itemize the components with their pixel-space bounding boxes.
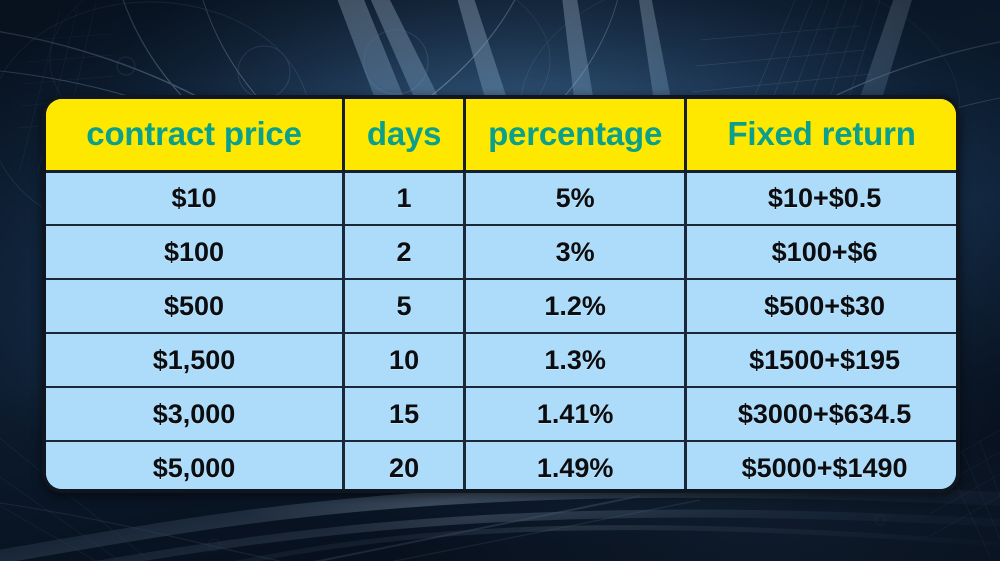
table-row: $100 2 3% $100+$6 [46, 225, 956, 279]
cell-contract-price: $3,000 [46, 387, 344, 441]
cell-percentage: 1.3% [465, 333, 686, 387]
table-row: $10 1 5% $10+$0.5 [46, 171, 956, 225]
cell-contract-price: $5,000 [46, 441, 344, 493]
cell-days: 1 [344, 171, 465, 225]
table-header: contract price days percentage Fixed ret… [46, 99, 956, 171]
table-body: $10 1 5% $10+$0.5 $100 2 3% $100+$6 $500… [46, 171, 956, 493]
cell-days: 20 [344, 441, 465, 493]
column-header-contract-price: contract price [46, 99, 344, 171]
cell-contract-price: $500 [46, 279, 344, 333]
cell-fixed-return: $500+$30 [686, 279, 956, 333]
rate-table: contract price days percentage Fixed ret… [46, 99, 956, 493]
cell-contract-price: $1,500 [46, 333, 344, 387]
header-row: contract price days percentage Fixed ret… [46, 99, 956, 171]
cell-percentage: 5% [465, 171, 686, 225]
cell-percentage: 1.2% [465, 279, 686, 333]
cell-percentage: 1.49% [465, 441, 686, 493]
cell-days: 15 [344, 387, 465, 441]
cell-fixed-return: $1500+$195 [686, 333, 956, 387]
cell-contract-price: $100 [46, 225, 344, 279]
rate-table-container: contract price days percentage Fixed ret… [42, 95, 960, 493]
cell-fixed-return: $100+$6 [686, 225, 956, 279]
cell-percentage: 3% [465, 225, 686, 279]
column-header-days: days [344, 99, 465, 171]
table-row: $5,000 20 1.49% $5000+$1490 [46, 441, 956, 493]
table-row: $3,000 15 1.41% $3000+$634.5 [46, 387, 956, 441]
table-row: $1,500 10 1.3% $1500+$195 [46, 333, 956, 387]
cell-days: 10 [344, 333, 465, 387]
cell-contract-price: $10 [46, 171, 344, 225]
cell-days: 2 [344, 225, 465, 279]
cell-percentage: 1.41% [465, 387, 686, 441]
column-header-fixed-return: Fixed return [686, 99, 956, 171]
cell-days: 5 [344, 279, 465, 333]
cell-fixed-return: $3000+$634.5 [686, 387, 956, 441]
column-header-percentage: percentage [465, 99, 686, 171]
table-row: $500 5 1.2% $500+$30 [46, 279, 956, 333]
cell-fixed-return: $5000+$1490 [686, 441, 956, 493]
cell-fixed-return: $10+$0.5 [686, 171, 956, 225]
